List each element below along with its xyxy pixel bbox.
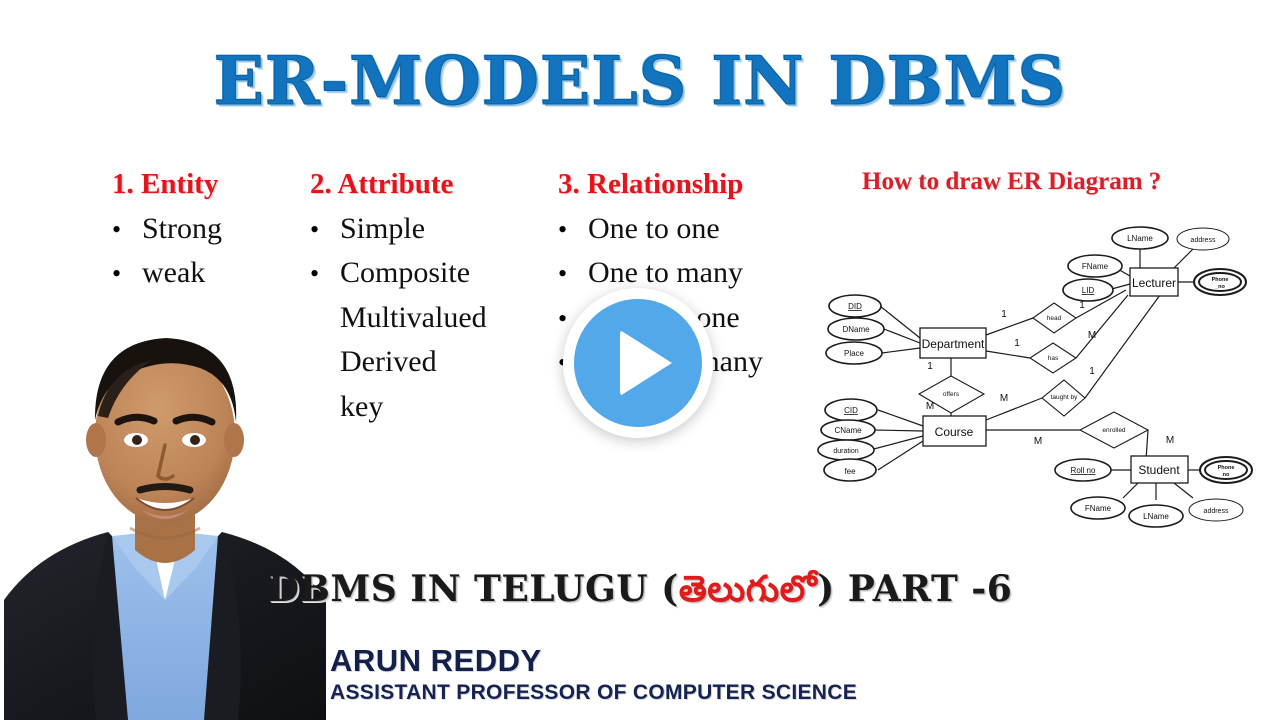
er-cardinality: M [1088, 330, 1096, 341]
er-diagram-heading: How to draw ER Diagram ? [862, 168, 1161, 196]
list-item: •Strong [112, 207, 222, 251]
list-item-label: weak [142, 251, 205, 295]
er-attribute-label: LName [1143, 512, 1169, 521]
list-item: •Derived [310, 340, 487, 384]
er-attribute-label: address [1191, 237, 1216, 244]
svg-text:Phone: Phone [1212, 277, 1229, 283]
list-item-label: Multivalued [340, 296, 487, 340]
list-item: •One to one [558, 207, 763, 251]
bullet-icon: • [112, 261, 142, 287]
er-attribute-label: LID [1082, 286, 1095, 295]
er-relationship-label: offers [943, 391, 960, 398]
list-item: •weak [112, 251, 222, 295]
play-button[interactable] [563, 288, 713, 438]
er-attribute-label: address [1204, 508, 1229, 515]
subtitle-prefix: DBMS IN TELUGU ( [268, 568, 679, 610]
column-heading-relationship: 3. Relationship [558, 168, 763, 201]
svg-text:_no: _no [1214, 284, 1225, 290]
er-cardinality: 1 [1001, 309, 1007, 320]
subtitle-telugu: తెలుగులో [679, 568, 817, 610]
list-item: •key [310, 385, 487, 429]
er-cardinality: M [926, 401, 934, 412]
presenter-photo [0, 300, 330, 720]
list-item-label: key [340, 385, 383, 429]
er-diagram: Department Lecturer Course Student head … [808, 198, 1280, 543]
play-triangle-icon [620, 330, 672, 396]
list-item: •Simple [310, 207, 487, 251]
bullet-icon: • [310, 261, 340, 287]
bullet-icon: • [558, 217, 588, 243]
list-item-label: Strong [142, 207, 222, 251]
topic-column-entity: 1. Entity •Strong •weak [112, 168, 222, 296]
column-heading-attribute: 2. Attribute [310, 168, 487, 201]
er-attribute-label: DName [842, 325, 870, 334]
er-relationship-label: taught by [1051, 394, 1078, 401]
er-attribute-label: Place [844, 349, 865, 358]
list-item-label: Composite [340, 251, 470, 295]
er-cardinality: M [1166, 435, 1174, 446]
list-item-label: Derived [340, 340, 437, 384]
er-attribute-label: Roll no [1071, 466, 1096, 475]
series-subtitle: DBMS IN TELUGU (తెలుగులో) PART -6 [0, 568, 1280, 619]
topic-column-attribute: 2. Attribute •Simple •Composite •Multiva… [310, 168, 487, 429]
er-cardinality: M [1034, 436, 1042, 447]
entity-list: •Strong •weak [112, 207, 222, 296]
page-title: ER-MODELS IN DBMS [0, 48, 1280, 114]
bullet-icon: • [310, 217, 340, 243]
er-cardinality: M [1000, 393, 1008, 404]
attribute-list: •Simple •Composite •Multivalued •Derived… [310, 207, 487, 429]
subtitle-suffix: ) PART -6 [817, 568, 1012, 610]
er-entity-label: Course [935, 425, 974, 439]
er-cardinality: 1 [927, 361, 933, 372]
list-item: •Composite [310, 251, 487, 295]
presenter-role: ASSISTANT PROFESSOR OF COMPUTER SCIENCE [330, 681, 857, 705]
list-item: •Multivalued [310, 296, 487, 340]
bullet-icon: • [112, 217, 142, 243]
er-entity-label: Department [922, 337, 985, 351]
er-relationship-label: has [1048, 355, 1059, 362]
er-entity-label: Lecturer [1132, 276, 1176, 290]
er-entity-label: Student [1138, 463, 1180, 477]
er-attribute-label: CID [844, 406, 858, 415]
er-cardinality: 1 [1014, 338, 1020, 349]
presenter-name: ARUN REDDY [330, 645, 857, 678]
column-heading-entity: 1. Entity [112, 168, 222, 201]
bullet-icon: • [558, 261, 588, 287]
list-item-label: Simple [340, 207, 425, 251]
list-item-label: One to many [588, 251, 743, 295]
svg-text:no: no [1223, 472, 1230, 478]
er-relationship-label: enrolled [1102, 427, 1126, 434]
er-attribute-label: FName [1085, 504, 1112, 513]
er-attribute-label: DID [848, 302, 862, 311]
list-item-label: One to one [588, 207, 720, 251]
er-attribute-label: FName [1082, 262, 1109, 271]
presenter-credit: ARUN REDDY ASSISTANT PROFESSOR OF COMPUT… [330, 645, 857, 705]
er-attribute-label: duration [833, 448, 858, 455]
er-attribute-label: CName [834, 426, 862, 435]
er-attribute-label: LName [1127, 234, 1153, 243]
er-cardinality: 1 [1089, 366, 1095, 377]
video-thumbnail-slide: ER-MODELS IN DBMS 1. Entity •Strong •wea… [0, 0, 1280, 720]
er-attribute-label: fee [844, 467, 856, 476]
list-item: •One to many [558, 251, 763, 295]
er-relationship-label: head [1047, 315, 1062, 322]
svg-text:Phone: Phone [1218, 465, 1235, 471]
